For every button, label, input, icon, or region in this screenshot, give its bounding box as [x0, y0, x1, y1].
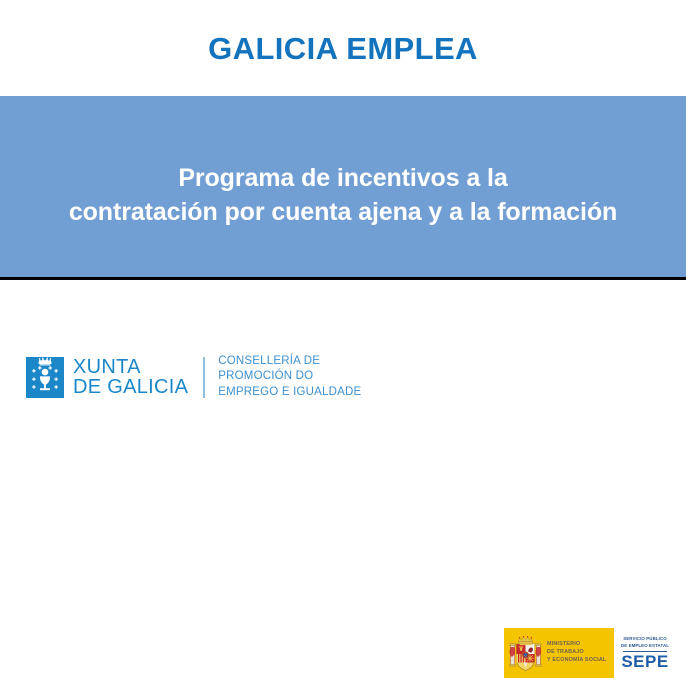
conselleria-line-3: EMPREGO E IGUALDADE: [218, 385, 361, 400]
sepe-tagline: SERVICIO PÚBLICO DE EMPLEO ESTATAL: [621, 636, 669, 648]
xunta-wordmark-line-1: XUNTA: [73, 357, 188, 377]
conselleria-text: CONSELLERÍA DE PROMOCIÓN DO EMPREGO E IG…: [218, 354, 361, 400]
xunta-de-galicia-logo: XUNTA DE GALICIA CONSELLERÍA DE PROMOCIÓ…: [26, 354, 361, 400]
ministerio-line-1: MINISTERIO: [547, 641, 606, 649]
conselleria-line-1: CONSELLERÍA DE: [218, 354, 361, 369]
program-banner: Programa de incentivos a la contratación…: [0, 96, 686, 280]
gobierno-de-espana-sepe-logo: MINISTERIO DE TRABAJO Y ECONOMÍA SOCIAL …: [504, 628, 676, 678]
logo-divider: [203, 357, 205, 398]
galicia-coat-of-arms-icon: [26, 357, 64, 398]
sepe-tagline-line-1: SERVICIO PÚBLICO: [621, 636, 669, 642]
ministerio-line-2: DE TRABAJO: [547, 649, 606, 657]
sepe-wordmark: SEPE: [621, 653, 668, 670]
footer-logos: XUNTA DE GALICIA CONSELLERÍA DE PROMOCIÓ…: [0, 280, 686, 407]
ministerio-block: MINISTERIO DE TRABAJO Y ECONOMÍA SOCIAL: [504, 628, 614, 678]
page-title: GALICIA EMPLEA: [208, 33, 478, 64]
spain-coat-of-arms-icon: [509, 633, 542, 673]
sepe-tagline-line-2: DE EMPLEO ESTATAL: [621, 643, 669, 649]
ministerio-text: MINISTERIO DE TRABAJO Y ECONOMÍA SOCIAL: [547, 641, 606, 664]
program-title-line-1: Programa de incentivos a la: [0, 162, 686, 195]
conselleria-line-2: PROMOCIÓN DO: [218, 369, 361, 384]
xunta-wordmark: XUNTA DE GALICIA: [73, 357, 188, 398]
sepe-rule: [623, 651, 667, 652]
program-title-line-2: contratación por cuenta ajena y a la for…: [0, 196, 686, 229]
program-banner-text: Programa de incentivos a la contratación…: [0, 144, 686, 229]
sepe-block: SERVICIO PÚBLICO DE EMPLEO ESTATAL SEPE: [614, 628, 676, 678]
xunta-wordmark-line-2: DE GALICIA: [73, 377, 188, 397]
ministerio-line-3: Y ECONOMÍA SOCIAL: [547, 657, 606, 665]
header-banner: GALICIA EMPLEA: [0, 0, 686, 96]
